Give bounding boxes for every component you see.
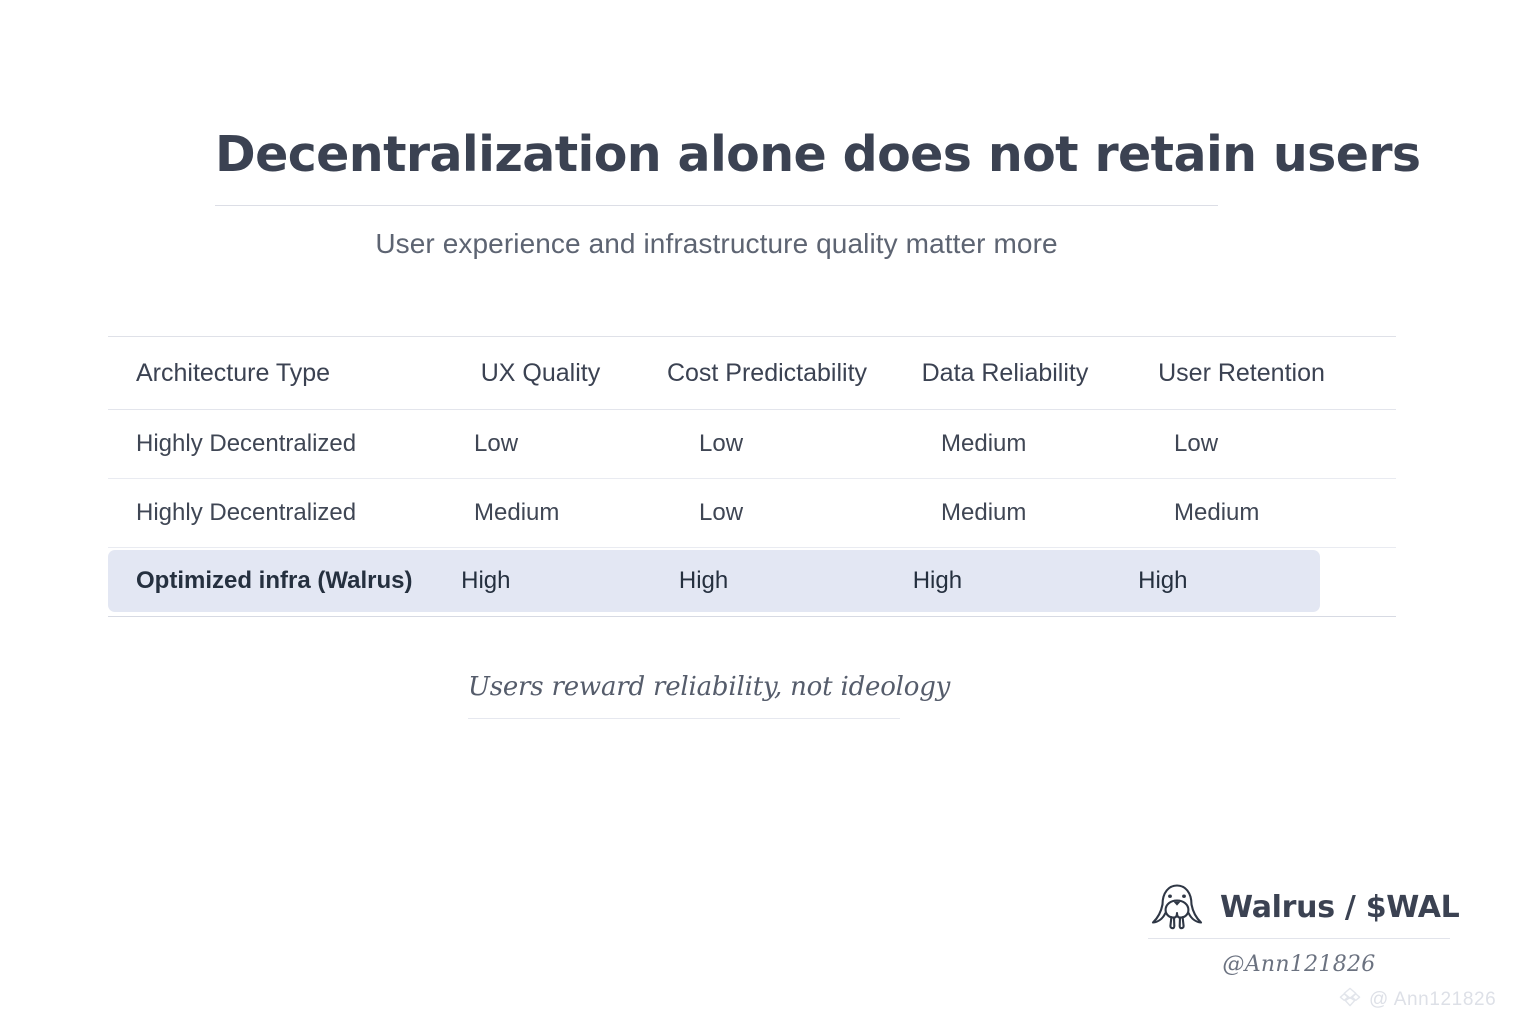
brand-row: Walrus / $WAL xyxy=(1148,880,1450,934)
column-header-ux-quality: UX Quality xyxy=(438,359,643,388)
caption-text: Users reward reliability, not ideology xyxy=(468,672,900,702)
title-divider xyxy=(215,205,1218,206)
cell-ux-quality: Low xyxy=(438,430,643,458)
cell-architecture-type: Optimized infra (Walrus) xyxy=(108,567,425,595)
caption-block: Users reward reliability, not ideology xyxy=(468,672,900,719)
cell-data-reliability: Medium xyxy=(891,499,1119,527)
diamond-logo-icon xyxy=(1338,986,1362,1013)
cell-user-retention: High xyxy=(1083,567,1320,595)
brand-divider xyxy=(1148,938,1450,939)
watermark: @ Ann121826 xyxy=(1338,986,1496,1013)
column-header-cost-predictability: Cost Predictability xyxy=(643,359,891,388)
watermark-text: @ Ann121826 xyxy=(1369,989,1496,1011)
cell-ux-quality: Medium xyxy=(438,499,643,527)
cell-cost-predictability: High xyxy=(623,567,863,595)
comparison-table: Architecture Type UX Quality Cost Predic… xyxy=(108,336,1396,617)
cell-data-reliability: Medium xyxy=(891,430,1119,458)
table-row: Highly Decentralized Low Low Medium Low xyxy=(108,410,1396,479)
cell-ux-quality: High xyxy=(425,567,623,595)
slide-canvas: Decentralization alone does not retain u… xyxy=(0,0,1536,1024)
cell-architecture-type: Highly Decentralized xyxy=(108,430,438,458)
cell-user-retention: Low xyxy=(1119,430,1364,458)
title-block: Decentralization alone does not retain u… xyxy=(215,128,1218,260)
table-header-row: Architecture Type UX Quality Cost Predic… xyxy=(108,337,1396,410)
brand-block: Walrus / $WAL @Ann121826 xyxy=(1148,880,1450,977)
table-bottom-border xyxy=(108,616,1396,617)
caption-divider xyxy=(468,718,900,719)
cell-user-retention: Medium xyxy=(1119,499,1364,527)
cell-cost-predictability: Low xyxy=(643,430,891,458)
cell-architecture-type: Highly Decentralized xyxy=(108,499,438,527)
cell-cost-predictability: Low xyxy=(643,499,891,527)
brand-handle: @Ann121826 xyxy=(1148,952,1450,977)
column-header-architecture-type: Architecture Type xyxy=(108,359,438,388)
column-header-data-reliability: Data Reliability xyxy=(891,359,1119,388)
page-title: Decentralization alone does not retain u… xyxy=(215,128,1218,183)
walrus-icon xyxy=(1148,880,1206,935)
column-header-user-retention: User Retention xyxy=(1119,359,1364,388)
table-row: Highly Decentralized Medium Low Medium M… xyxy=(108,479,1396,548)
table-row-highlighted: Optimized infra (Walrus) High High High … xyxy=(108,550,1320,612)
cell-data-reliability: High xyxy=(863,567,1083,595)
brand-name: Walrus / $WAL xyxy=(1220,890,1459,925)
page-subtitle: User experience and infrastructure quali… xyxy=(215,228,1218,260)
